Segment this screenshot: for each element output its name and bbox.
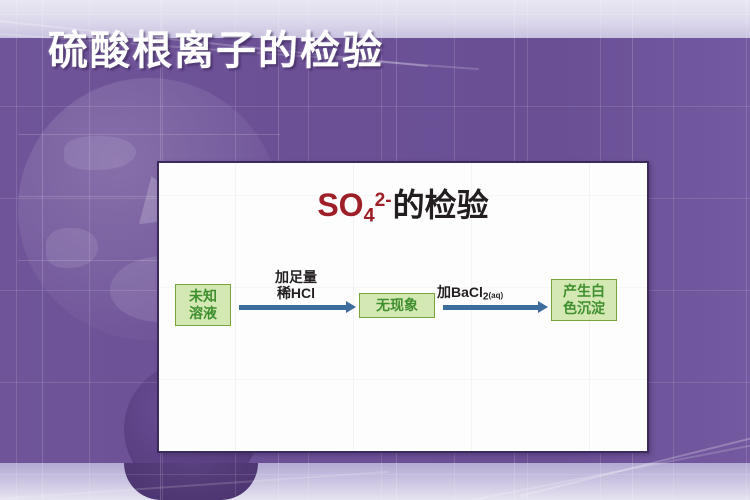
flow-node-no-phenomenon: 无现象 (359, 293, 435, 318)
slide-canvas: 硫酸根离子的检验 SO42-的检验 未知 溶液 加足量稀HCl 无现象 加BaC… (0, 0, 750, 500)
flow-node-white-precipitate: 产生白 色沉淀 (551, 279, 617, 321)
flow-arrow-add-bacl2 (443, 305, 539, 310)
globe-latitude-line (18, 134, 280, 135)
flow-label-add-bacl2: 加BaCl2(aq) (437, 284, 547, 306)
formula-element: SO (317, 187, 363, 223)
content-panel: SO42-的检验 未知 溶液 加足量稀HCl 无现象 加BaCl2(aq) 产生… (157, 161, 649, 453)
panel-heading: SO42-的检验 (159, 189, 647, 226)
heading-suffix: 的检验 (393, 187, 489, 223)
flow-node-unknown-solution: 未知 溶液 (175, 284, 231, 326)
flow-arrow-add-dilute-hcl (239, 305, 347, 310)
slide-title: 硫酸根离子的检验 (48, 18, 384, 76)
sulfate-formula: SO42- (317, 187, 391, 223)
formula-subscript: 4 (364, 205, 375, 227)
flow-label-reagent: 加BaCl (437, 284, 483, 300)
globe-landmass (64, 136, 136, 170)
flow-label-line2: 稀HCl (277, 285, 315, 301)
formula-superscript: 2- (375, 190, 392, 211)
sphere-decoration-bottom (124, 463, 258, 500)
flow-label-add-dilute-hcl: 加足量稀HCl (251, 269, 341, 301)
background-bottom-strip (0, 463, 750, 500)
flow-label-reagent-state: (aq) (489, 291, 504, 300)
flow-label-line1: 加足量 (275, 269, 317, 285)
reaction-flow-diagram: 未知 溶液 加足量稀HCl 无现象 加BaCl2(aq) 产生白 色沉淀 (173, 271, 633, 351)
globe-landmass (46, 228, 98, 268)
